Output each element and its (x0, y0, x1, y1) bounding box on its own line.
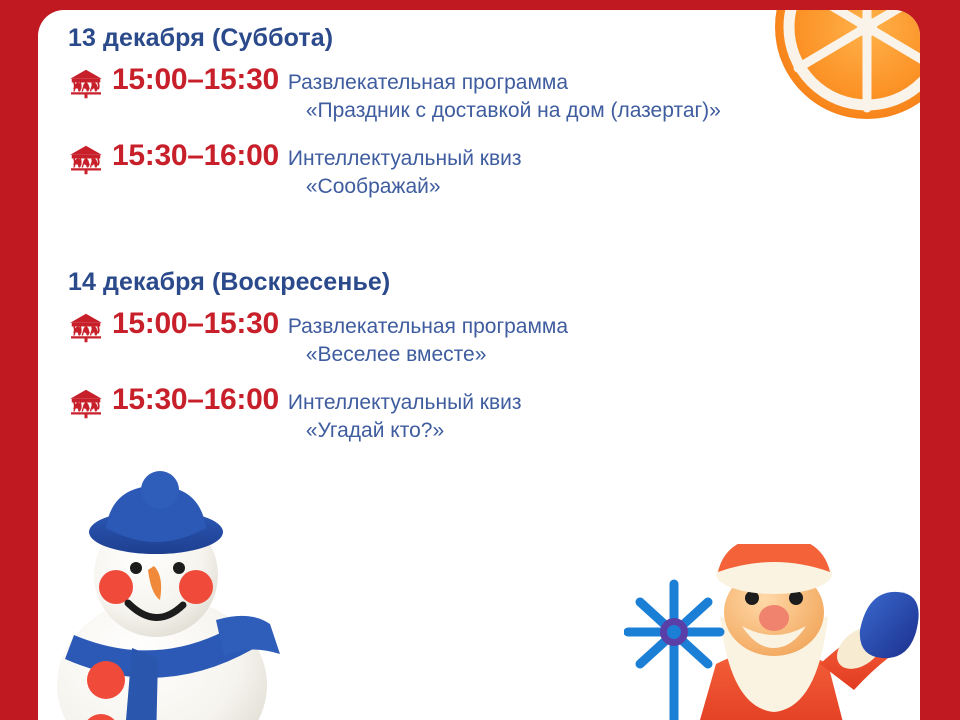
event-subtitle-line: «Соображай» (288, 173, 898, 201)
event-row: 15:00–15:30 Развлекательная программа «В… (68, 307, 898, 369)
snowflake-icon (628, 584, 720, 720)
event-time: 15:30–16:00 (112, 139, 279, 173)
event-subtitle-line: «Веселее вместе» (288, 341, 898, 369)
day-heading: 13 декабря (Суббота) (68, 24, 898, 53)
poster-background: 13 декабря (Суббота) (0, 0, 960, 720)
event-subtitle-line: «Праздник с доставкой на дом (лазертаг)» (288, 97, 898, 125)
event-time: 15:00–15:30 (112, 63, 279, 97)
snowman-icon (44, 470, 294, 720)
event-row: 15:30–16:00 Интеллектуальный квиз «Угада… (68, 383, 898, 445)
event-title-line: Развлекательная программа (288, 69, 898, 97)
event-row: 15:30–16:00 Интеллектуальный квиз «Сообр… (68, 139, 898, 201)
event-description: Развлекательная программа «Веселее вмест… (288, 307, 898, 369)
day-block: 14 декабря (Воскресенье) (68, 268, 898, 446)
event-description: Развлекательная программа «Праздник с до… (288, 63, 898, 125)
event-row: 15:00–15:30 Развлекательная программа «П… (68, 63, 898, 125)
event-time: 15:00–15:30 (112, 307, 279, 341)
event-title-line: Интеллектуальный квиз (288, 145, 898, 173)
carousel-icon (68, 389, 104, 419)
event-subtitle-line: «Угадай кто?» (288, 417, 898, 445)
event-time: 15:30–16:00 (112, 383, 279, 417)
day-heading: 14 декабря (Воскресенье) (68, 268, 898, 297)
event-description: Интеллектуальный квиз «Соображай» (288, 139, 898, 201)
event-description: Интеллектуальный квиз «Угадай кто?» (288, 383, 898, 445)
day-block: 13 декабря (Суббота) (68, 24, 898, 202)
poster-card: 13 декабря (Суббота) (38, 10, 920, 720)
schedule-list: 13 декабря (Суббота) (68, 24, 898, 459)
carousel-icon (68, 313, 104, 343)
santa-claus-icon (624, 544, 920, 720)
event-title-line: Развлекательная программа (288, 313, 898, 341)
event-title-line: Интеллектуальный квиз (288, 389, 898, 417)
carousel-icon (68, 69, 104, 99)
carousel-icon (68, 145, 104, 175)
